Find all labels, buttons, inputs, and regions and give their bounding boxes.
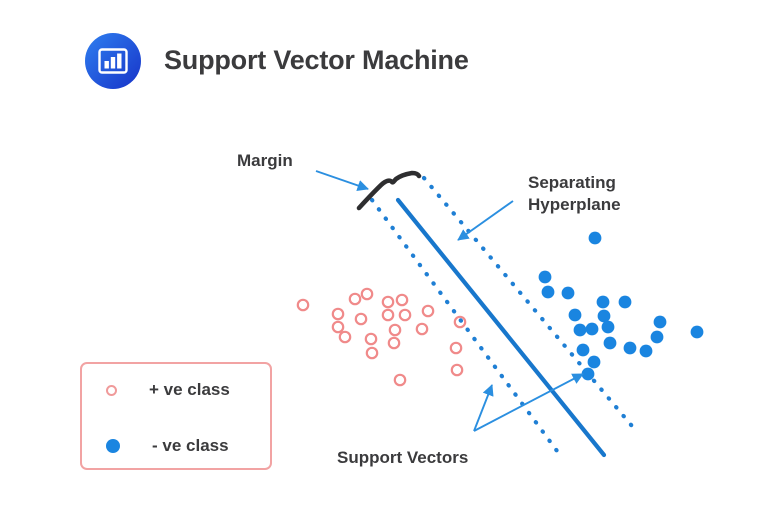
annotation-hyperplane-label: Separating Hyperplane (528, 172, 621, 215)
bar-chart-icon (85, 33, 141, 89)
data-point-positive (451, 343, 461, 353)
legend-label-negative-class: - ve class (152, 436, 229, 456)
data-point-positive (397, 295, 407, 305)
data-point-negative (604, 337, 617, 350)
legend-item-positive-class: + ve class (106, 380, 230, 400)
data-point-positive (400, 310, 410, 320)
data-point-positive (340, 332, 350, 342)
data-point-negative (562, 287, 575, 300)
data-point-positive (350, 294, 360, 304)
data-point-negative (577, 344, 590, 357)
annotation-margin-label: Margin (237, 150, 293, 172)
data-point-positive (367, 348, 377, 358)
data-point-positive (383, 310, 393, 320)
data-point-positive (390, 325, 400, 335)
data-point-positive (356, 314, 366, 324)
data-point-positive (395, 375, 405, 385)
data-point-positive (333, 322, 343, 332)
legend-marker-filled-circle-icon (106, 439, 120, 453)
data-point-negative (588, 356, 601, 369)
negative-class-points (539, 232, 704, 381)
data-point-negative (542, 286, 555, 299)
data-point-negative (582, 368, 595, 381)
hyperplane-arrow (458, 201, 513, 240)
support-vector-arrow-right (474, 374, 583, 431)
legend-item-negative-class: - ve class (106, 436, 229, 456)
data-point-negative (602, 321, 615, 334)
data-point-negative (624, 342, 637, 355)
data-point-positive (417, 324, 427, 334)
page-title: Support Vector Machine (164, 45, 469, 76)
data-point-positive (333, 309, 343, 319)
data-point-negative (640, 345, 653, 358)
margin-brace (359, 173, 419, 208)
data-point-negative (539, 271, 552, 284)
data-point-positive (362, 289, 372, 299)
data-point-negative (691, 326, 704, 339)
data-point-positive (423, 306, 433, 316)
data-point-negative (589, 232, 602, 245)
data-point-positive (452, 365, 462, 375)
data-point-negative (651, 331, 664, 344)
data-point-negative (598, 310, 611, 323)
data-point-positive (298, 300, 308, 310)
data-point-positive (383, 297, 393, 307)
data-point-negative (654, 316, 667, 329)
data-point-negative (574, 324, 587, 337)
data-point-negative (619, 296, 632, 309)
margin-arrow (316, 171, 368, 189)
data-point-positive (366, 334, 376, 344)
annotation-support-vectors-label: Support Vectors (337, 447, 468, 469)
data-point-positive (389, 338, 399, 348)
legend-label-positive-class: + ve class (149, 380, 230, 400)
legend-marker-hollow-circle-icon (106, 385, 117, 396)
support-vector-arrow-left (474, 385, 492, 431)
data-point-negative (597, 296, 610, 309)
positive-class-points (298, 289, 465, 385)
data-point-negative (569, 309, 582, 322)
data-point-negative (586, 323, 599, 336)
